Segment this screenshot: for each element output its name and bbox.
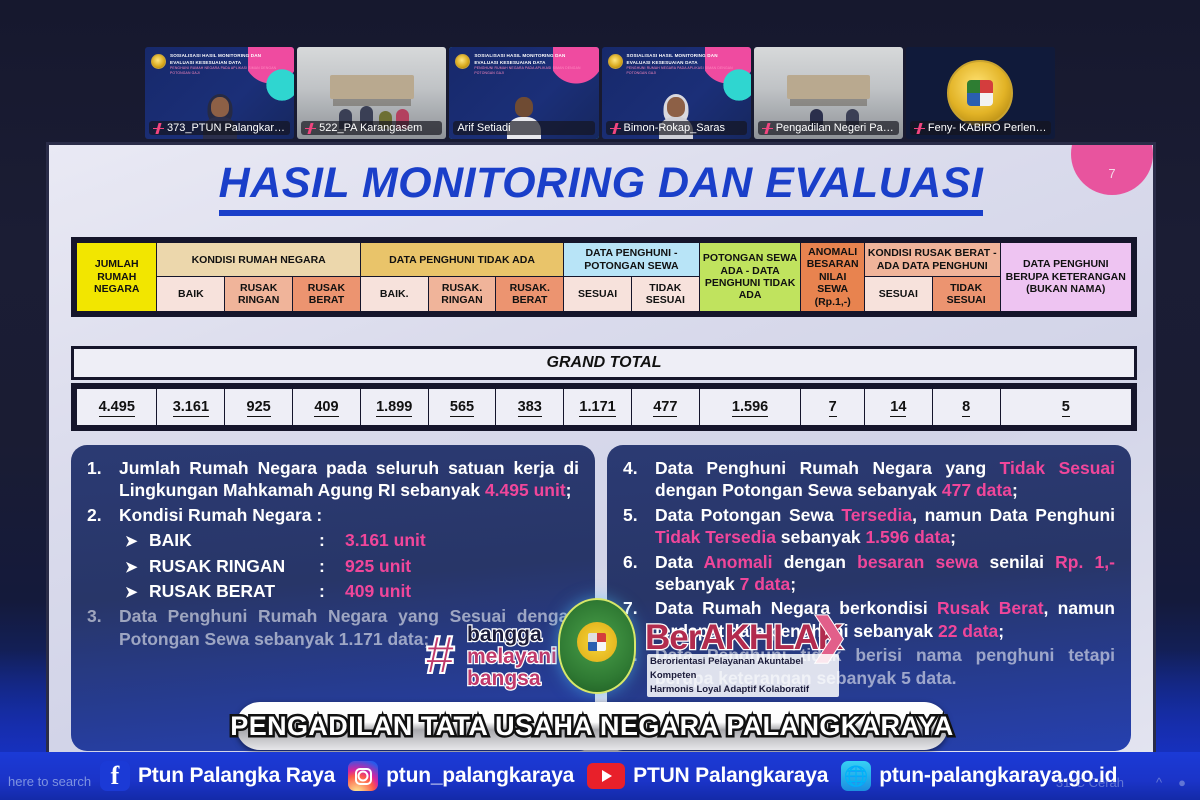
value-cell: 7	[801, 389, 865, 426]
bangga-melayani-bangsa-logo: # bangga melayani bangsa	[425, 622, 570, 690]
th-sub-tidak-sesuai: TIDAK SESUAI	[631, 277, 699, 311]
tile-slide-title: SOSIALISASI HASIL MONITORING DAN EVALUAS…	[627, 53, 735, 76]
social-item-youtube[interactable]: PTUN Palangkaraya	[587, 763, 828, 789]
instagram-icon[interactable]	[348, 761, 378, 791]
chevron-up-icon[interactable]: ^	[1156, 775, 1162, 790]
zoom-muted-icon	[914, 123, 925, 134]
social-media-bar: f Ptun Palangka Raya ptun_palangkaraya P…	[0, 752, 1200, 800]
mahkamah-agung-seal-icon	[558, 598, 636, 694]
social-item-facebook[interactable]: f Ptun Palangka Raya	[100, 761, 335, 791]
participant-tile[interactable]: SOSIALISASI HASIL MONITORING DAN EVALUAS…	[602, 47, 751, 139]
participant-tile[interactable]: Pengadilan Negeri Pasi...	[754, 47, 903, 139]
grand-total-block: GRAND TOTAL 4.495 3.161 925 409 1.899	[71, 343, 1137, 431]
value-cell: 383	[496, 389, 564, 426]
participant-label: Bimon-Rokap_Saras	[606, 121, 747, 135]
hash-icon: #	[425, 628, 455, 682]
value-cell: 1.899	[360, 389, 428, 426]
th-sub-rusak-berat-2: RUSAK. BERAT	[496, 277, 564, 311]
th-sub-sesuai-2: SESUAI	[864, 277, 932, 311]
court-seal-icon	[151, 54, 166, 69]
table-header-grid: JUMLAH RUMAH NEGARA KONDISI RUMAH NEGARA…	[76, 242, 1132, 312]
th-kondisi-rusak-berat-ada-data-penghuni: KONDISI RUSAK BERAT - ADA DATA PENGHUNI	[864, 243, 1000, 277]
participant-name: 373_PTUN Palangkara...	[167, 122, 286, 134]
bullet-arrow-icon: ➤	[125, 582, 149, 604]
organization-name: PENGADILAN TATA USAHA NEGARA PALANGKARAY…	[230, 711, 953, 742]
value-cell: 477	[631, 389, 699, 426]
participant-label: Arif Setiadi	[453, 121, 594, 135]
slide-title: HASIL MONITORING DAN EVALUASI	[49, 159, 1153, 208]
participant-name: Bimon-Rokap_Saras	[624, 122, 726, 134]
zoom-muted-icon	[305, 123, 316, 134]
list-item: Data Potongan Sewa Tersedia, namun Data …	[621, 504, 1115, 549]
table-row: 4.495 3.161 925 409 1.899 565 383 1.171 …	[77, 389, 1132, 426]
list-item: Jumlah Rumah Negara pada seluruh satuan …	[85, 457, 579, 502]
court-seal-icon	[608, 54, 623, 69]
berakhlak-tagline: Berorientasi Pelayanan Akuntabel Kompete…	[647, 654, 839, 697]
value-cell: 4.495	[77, 389, 157, 426]
list-item: ➤ RUSAK RINGAN : 925 unit	[125, 554, 579, 579]
grand-total-label: GRAND TOTAL	[71, 346, 1137, 380]
th-potongan-sewa-ada: POTONGAN SEWA ADA - DATA PENGHUNI TIDAK …	[699, 243, 801, 312]
value-cell: 3.161	[157, 389, 225, 426]
participant-label: 522_PA Karangasem	[301, 121, 442, 135]
zoom-muted-icon	[610, 123, 621, 134]
th-sub-tidak-sesuai-2: TIDAK SESUAI	[932, 277, 1000, 311]
th-data-penghuni-potongan-sewa: DATA PENGHUNI - POTONGAN SEWA	[564, 243, 700, 277]
th-sub-baik-2: BAIK.	[360, 277, 428, 311]
taskbar-search-hint[interactable]: here to search	[8, 774, 91, 789]
taskbar-weather[interactable]: 31°C Cerah	[1056, 775, 1124, 790]
bullet-arrow-icon: ➤	[125, 531, 149, 553]
berakhlak-logo: BerAKHLAK ❯ Berorientasi Pelayanan Akunt…	[645, 620, 845, 694]
court-seal-icon	[455, 54, 470, 69]
participant-label: 373_PTUN Palangkara...	[149, 121, 290, 135]
participant-filmstrip: SOSIALISASI HASIL MONITORING DAN EVALUAS…	[145, 47, 1055, 139]
value-cell: 8	[932, 389, 1000, 426]
tile-slide-title: SOSIALISASI HASIL MONITORING DAN EVALUAS…	[474, 53, 582, 76]
participant-name: Pengadilan Negeri Pasi...	[776, 122, 895, 134]
list-item: Kondisi Rumah Negara :	[85, 504, 579, 526]
participant-tile[interactable]: 522_PA Karangasem	[297, 47, 446, 139]
th-kondisi-rumah-negara: KONDISI RUMAH NEGARA	[157, 243, 360, 277]
microphone-icon[interactable]: ●	[1178, 775, 1186, 790]
tile-slide-title: SOSIALISASI HASIL MONITORING DAN EVALUAS…	[170, 53, 278, 76]
participant-tile-active[interactable]: SOSIALISASI HASIL MONITORING DAN EVALUAS…	[449, 47, 598, 139]
taskbar-tray[interactable]: ^ ●	[1156, 775, 1186, 790]
court-seal-icon	[947, 60, 1013, 126]
facebook-handle: Ptun Palangka Raya	[138, 764, 335, 788]
participant-name: Arif Setiadi	[457, 122, 510, 134]
participant-tile[interactable]: Feny- KABIRO Perleng...	[906, 47, 1055, 139]
participant-label: Feny- KABIRO Perleng...	[910, 121, 1051, 135]
instagram-handle: ptun_palangkaraya	[386, 764, 574, 788]
list-item: ➤ RUSAK BERAT : 409 unit	[125, 579, 579, 604]
th-anomali-besaran-nilai-sewa: ANOMALI BESARAN NILAI SEWA (Rp.1,-)	[801, 243, 865, 312]
grand-total-values: 4.495 3.161 925 409 1.899 565 383 1.171 …	[76, 388, 1132, 426]
value-cell: 14	[864, 389, 932, 426]
th-sub-sesuai: SESUAI	[564, 277, 632, 311]
youtube-icon[interactable]	[587, 763, 625, 789]
summary-table: JUMLAH RUMAH NEGARA KONDISI RUMAH NEGARA…	[71, 237, 1137, 317]
zoom-muted-icon	[762, 123, 773, 134]
value-cell: 5	[1000, 389, 1131, 426]
th-jumlah-rumah-negara: JUMLAH RUMAH NEGARA	[77, 243, 157, 312]
th-sub-rusak-ringan-2: RUSAK. RINGAN	[428, 277, 496, 311]
youtube-handle: PTUN Palangkaraya	[633, 764, 828, 788]
table-subheader-row: BAIK RUSAK RINGAN RUSAK BERAT BAIK. RUSA…	[77, 277, 1132, 311]
social-item-instagram[interactable]: ptun_palangkaraya	[348, 761, 574, 791]
value-cell: 925	[225, 389, 293, 426]
th-sub-rusak-berat: RUSAK BERAT	[293, 277, 361, 311]
table-group-header-row: JUMLAH RUMAH NEGARA KONDISI RUMAH NEGARA…	[77, 243, 1132, 277]
lower-third-name-banner: PENGADILAN TATA USAHA NEGARA PALANGKARAY…	[236, 702, 948, 750]
value-cell: 1.596	[699, 389, 801, 426]
participant-label: Pengadilan Negeri Pasi...	[758, 121, 899, 135]
value-cell: 565	[428, 389, 496, 426]
conclusion-list-left: Jumlah Rumah Negara pada seluruh satuan …	[85, 457, 579, 526]
participant-name: 522_PA Karangasem	[319, 122, 422, 134]
th-sub-rusak-ringan: RUSAK RINGAN	[225, 277, 293, 311]
participant-name: Feny- KABIRO Perleng...	[928, 122, 1047, 134]
list-item: Data Anomali dengan besaran sewa senilai…	[621, 551, 1115, 596]
list-item: ➤ BAIK : 3.161 unit	[125, 528, 579, 553]
th-data-penghuni-berupa-keterangan: DATA PENGHUNI BERUPA KETERANGAN (BUKAN N…	[1000, 243, 1131, 312]
value-cell: 1.171	[564, 389, 632, 426]
th-data-penghuni-tidak-ada: DATA PENGHUNI TIDAK ADA	[360, 243, 563, 277]
facebook-icon[interactable]: f	[100, 761, 130, 791]
bullet-arrow-icon: ➤	[125, 557, 149, 579]
kondisi-sub-list: ➤ BAIK : 3.161 unit ➤ RUSAK RINGAN : 925…	[125, 528, 579, 604]
th-sub-baik: BAIK	[157, 277, 225, 311]
screen: SOSIALISASI HASIL MONITORING DAN EVALUAS…	[0, 0, 1200, 800]
participant-tile[interactable]: SOSIALISASI HASIL MONITORING DAN EVALUAS…	[145, 47, 294, 139]
globe-icon[interactable]: 🌐	[841, 761, 871, 791]
zoom-muted-icon	[153, 123, 164, 134]
list-item: Data Penghuni Rumah Negara yang Tidak Se…	[621, 457, 1115, 502]
value-cell: 409	[293, 389, 361, 426]
